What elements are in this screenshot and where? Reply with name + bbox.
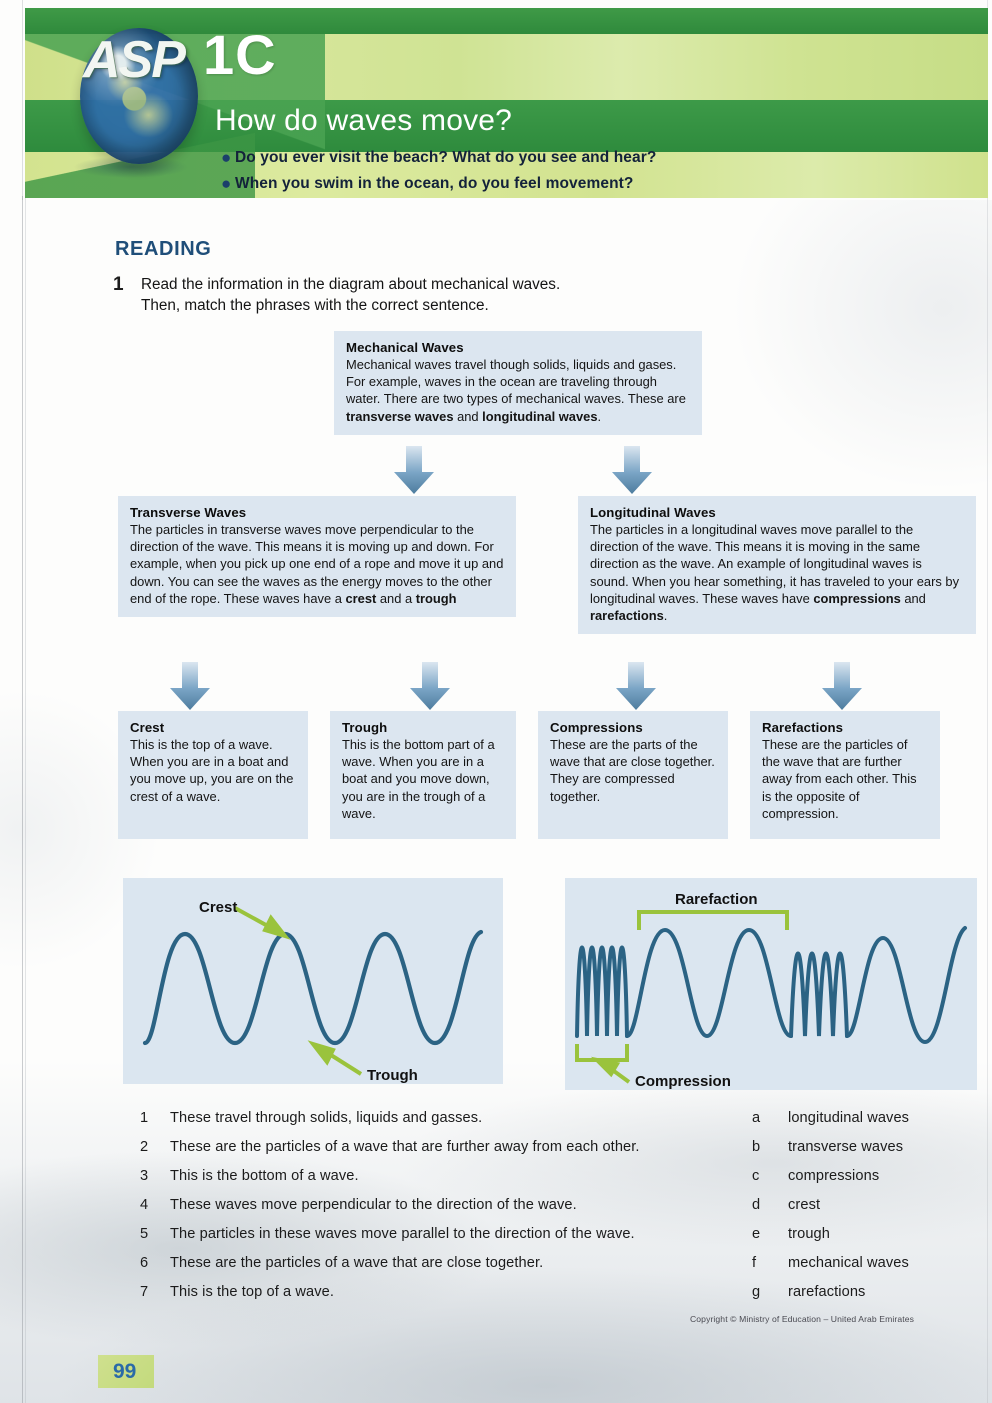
flow-box-body: These are the particles of the wave that… bbox=[762, 736, 928, 822]
option-text[interactable]: crest bbox=[788, 1197, 820, 1213]
flow-box-longitudinal-waves: Longitudinal Waves The particles in a lo… bbox=[578, 496, 976, 634]
flow-box-body: The particles in a longitudinal waves mo… bbox=[590, 521, 964, 624]
text-run: and a bbox=[376, 591, 415, 606]
phrase-text[interactable]: These travel through solids, liquids and… bbox=[170, 1110, 482, 1126]
table-row: 3 This is the bottom of a wave. c compre… bbox=[0, 1168, 992, 1197]
table-row: 4 These waves move perpendicular to the … bbox=[0, 1197, 992, 1226]
flow-box-title: Rarefactions bbox=[762, 720, 928, 735]
bold-term-rarefactions: rarefactions bbox=[590, 608, 664, 623]
option-letter: d bbox=[752, 1197, 760, 1213]
phrase-number: 6 bbox=[140, 1255, 148, 1271]
phrase-number: 4 bbox=[140, 1197, 148, 1213]
phrase-number: 5 bbox=[140, 1226, 148, 1242]
flow-box-title: Longitudinal Waves bbox=[590, 505, 964, 520]
text-run: . bbox=[664, 608, 668, 623]
flow-box-title: Mechanical Waves bbox=[346, 340, 690, 355]
text-run: and bbox=[901, 591, 926, 606]
scan-edge-top bbox=[22, 0, 23, 200]
table-row: 7 This is the top of a wave. g rarefacti… bbox=[0, 1284, 992, 1313]
option-text[interactable]: rarefactions bbox=[788, 1284, 865, 1300]
text-run: . bbox=[598, 409, 602, 424]
table-row: 2 These are the particles of a wave that… bbox=[0, 1139, 992, 1168]
task-line-1: Read the information in the diagram abou… bbox=[141, 276, 560, 293]
phrase-text[interactable]: These are the particles of a wave that a… bbox=[170, 1139, 640, 1155]
bullet-dot-icon: ● bbox=[221, 174, 235, 194]
figure-label-compression: Compression bbox=[635, 1073, 731, 1090]
option-letter: c bbox=[752, 1168, 759, 1184]
figure-transverse-wave: Crest Trough bbox=[123, 878, 503, 1084]
task-instruction: 1 Read the information in the diagram ab… bbox=[113, 274, 753, 316]
bold-term-longitudinal: longitudinal waves bbox=[482, 409, 597, 424]
matching-exercise: 1 These travel through solids, liquids a… bbox=[0, 1110, 992, 1313]
option-letter: a bbox=[752, 1110, 760, 1126]
option-letter: f bbox=[752, 1255, 756, 1271]
brand-logo-text: ASP bbox=[83, 30, 184, 90]
flow-box-crest: Crest This is the top of a wave. When yo… bbox=[118, 711, 308, 839]
phrase-text[interactable]: This is the bottom of a wave. bbox=[170, 1168, 359, 1184]
option-letter: b bbox=[752, 1139, 760, 1155]
task-number: 1 bbox=[113, 274, 141, 316]
unit-code: 1C bbox=[203, 22, 277, 87]
list-item: ● Do you ever visit the beach? What do y… bbox=[221, 148, 921, 168]
flow-box-title: Compressions bbox=[550, 720, 716, 735]
phrase-text[interactable]: These waves move perpendicular to the di… bbox=[170, 1197, 577, 1213]
intro-question-2: When you swim in the ocean, do you feel … bbox=[235, 174, 634, 194]
page-title: How do waves move? bbox=[215, 104, 512, 138]
page-number: 99 bbox=[113, 1360, 136, 1384]
flow-box-title: Crest bbox=[130, 720, 296, 735]
option-text[interactable]: mechanical waves bbox=[788, 1255, 909, 1271]
text-run: and bbox=[454, 409, 483, 424]
figure-label-rarefaction: Rarefaction bbox=[675, 891, 758, 908]
phrase-number: 2 bbox=[140, 1139, 148, 1155]
section-heading-reading: READING bbox=[115, 238, 211, 261]
option-text[interactable]: compressions bbox=[788, 1168, 879, 1184]
bold-term-compressions: compressions bbox=[813, 591, 900, 606]
flow-box-body: This is the top of a wave. When you are … bbox=[130, 736, 296, 805]
figure-label-crest: Crest bbox=[199, 899, 237, 916]
flow-arrow-down-to-rarefactions bbox=[820, 662, 864, 710]
flow-box-title: Transverse Waves bbox=[130, 505, 504, 520]
bold-term-crest: crest bbox=[345, 591, 376, 606]
flow-box-transverse-waves: Transverse Waves The particles in transv… bbox=[118, 496, 516, 617]
phrase-number: 7 bbox=[140, 1284, 148, 1300]
bold-term-trough: trough bbox=[416, 591, 457, 606]
flow-arrow-down-to-longitudinal bbox=[610, 446, 654, 494]
task-text: Read the information in the diagram abou… bbox=[141, 274, 560, 316]
phrase-text[interactable]: This is the top of a wave. bbox=[170, 1284, 334, 1300]
option-text[interactable]: trough bbox=[788, 1226, 830, 1242]
copyright-notice: Copyright © Ministry of Education – Unit… bbox=[690, 1314, 914, 1324]
flow-box-body: The particles in transverse waves move p… bbox=[130, 521, 504, 607]
intro-question-list: ● Do you ever visit the beach? What do y… bbox=[221, 148, 921, 198]
table-row: 6 These are the particles of a wave that… bbox=[0, 1255, 992, 1284]
flow-box-body: These are the parts of the wave that are… bbox=[550, 736, 716, 805]
text-run: Mechanical waves travel though solids, l… bbox=[346, 357, 686, 406]
flow-arrow-down-to-compressions bbox=[614, 662, 658, 710]
flow-box-trough: Trough This is the bottom part of a wave… bbox=[330, 711, 516, 839]
phrase-text[interactable]: These are the particles of a wave that a… bbox=[170, 1255, 543, 1271]
textbook-page: ASP 1C How do waves move? ● Do you ever … bbox=[0, 0, 992, 1403]
table-row: 5 The particles in these waves move para… bbox=[0, 1226, 992, 1255]
list-item: ● When you swim in the ocean, do you fee… bbox=[221, 174, 921, 194]
flow-arrow-down-to-trough bbox=[408, 662, 452, 710]
phrase-text[interactable]: The particles in these waves move parall… bbox=[170, 1226, 635, 1242]
flow-box-rarefactions: Rarefactions These are the particles of … bbox=[750, 711, 940, 839]
bullet-dot-icon: ● bbox=[221, 148, 235, 168]
figure-label-trough: Trough bbox=[367, 1067, 418, 1084]
lesson-header: ASP 1C How do waves move? ● Do you ever … bbox=[25, 8, 988, 198]
flow-box-compressions: Compressions These are the parts of the … bbox=[538, 711, 728, 839]
flow-box-title: Trough bbox=[342, 720, 504, 735]
flow-box-mechanical-waves: Mechanical Waves Mechanical waves travel… bbox=[334, 331, 702, 435]
table-row: 1 These travel through solids, liquids a… bbox=[0, 1110, 992, 1139]
flow-arrow-down-to-transverse bbox=[392, 446, 436, 494]
flow-arrow-down-to-crest bbox=[168, 662, 212, 710]
flow-box-body: Mechanical waves travel though solids, l… bbox=[346, 356, 690, 425]
task-line-2: Then, match the phrases with the correct… bbox=[141, 297, 489, 314]
flow-box-body: This is the bottom part of a wave. When … bbox=[342, 736, 504, 822]
phrase-number: 1 bbox=[140, 1110, 148, 1126]
bold-term-transverse: transverse waves bbox=[346, 409, 454, 424]
option-text[interactable]: longitudinal waves bbox=[788, 1110, 909, 1126]
phrase-number: 3 bbox=[140, 1168, 148, 1184]
option-letter: e bbox=[752, 1226, 760, 1242]
option-text[interactable]: transverse waves bbox=[788, 1139, 903, 1155]
intro-question-1: Do you ever visit the beach? What do you… bbox=[235, 148, 656, 168]
figure-longitudinal-wave: Rarefaction Compression bbox=[565, 878, 977, 1090]
option-letter: g bbox=[752, 1284, 760, 1300]
